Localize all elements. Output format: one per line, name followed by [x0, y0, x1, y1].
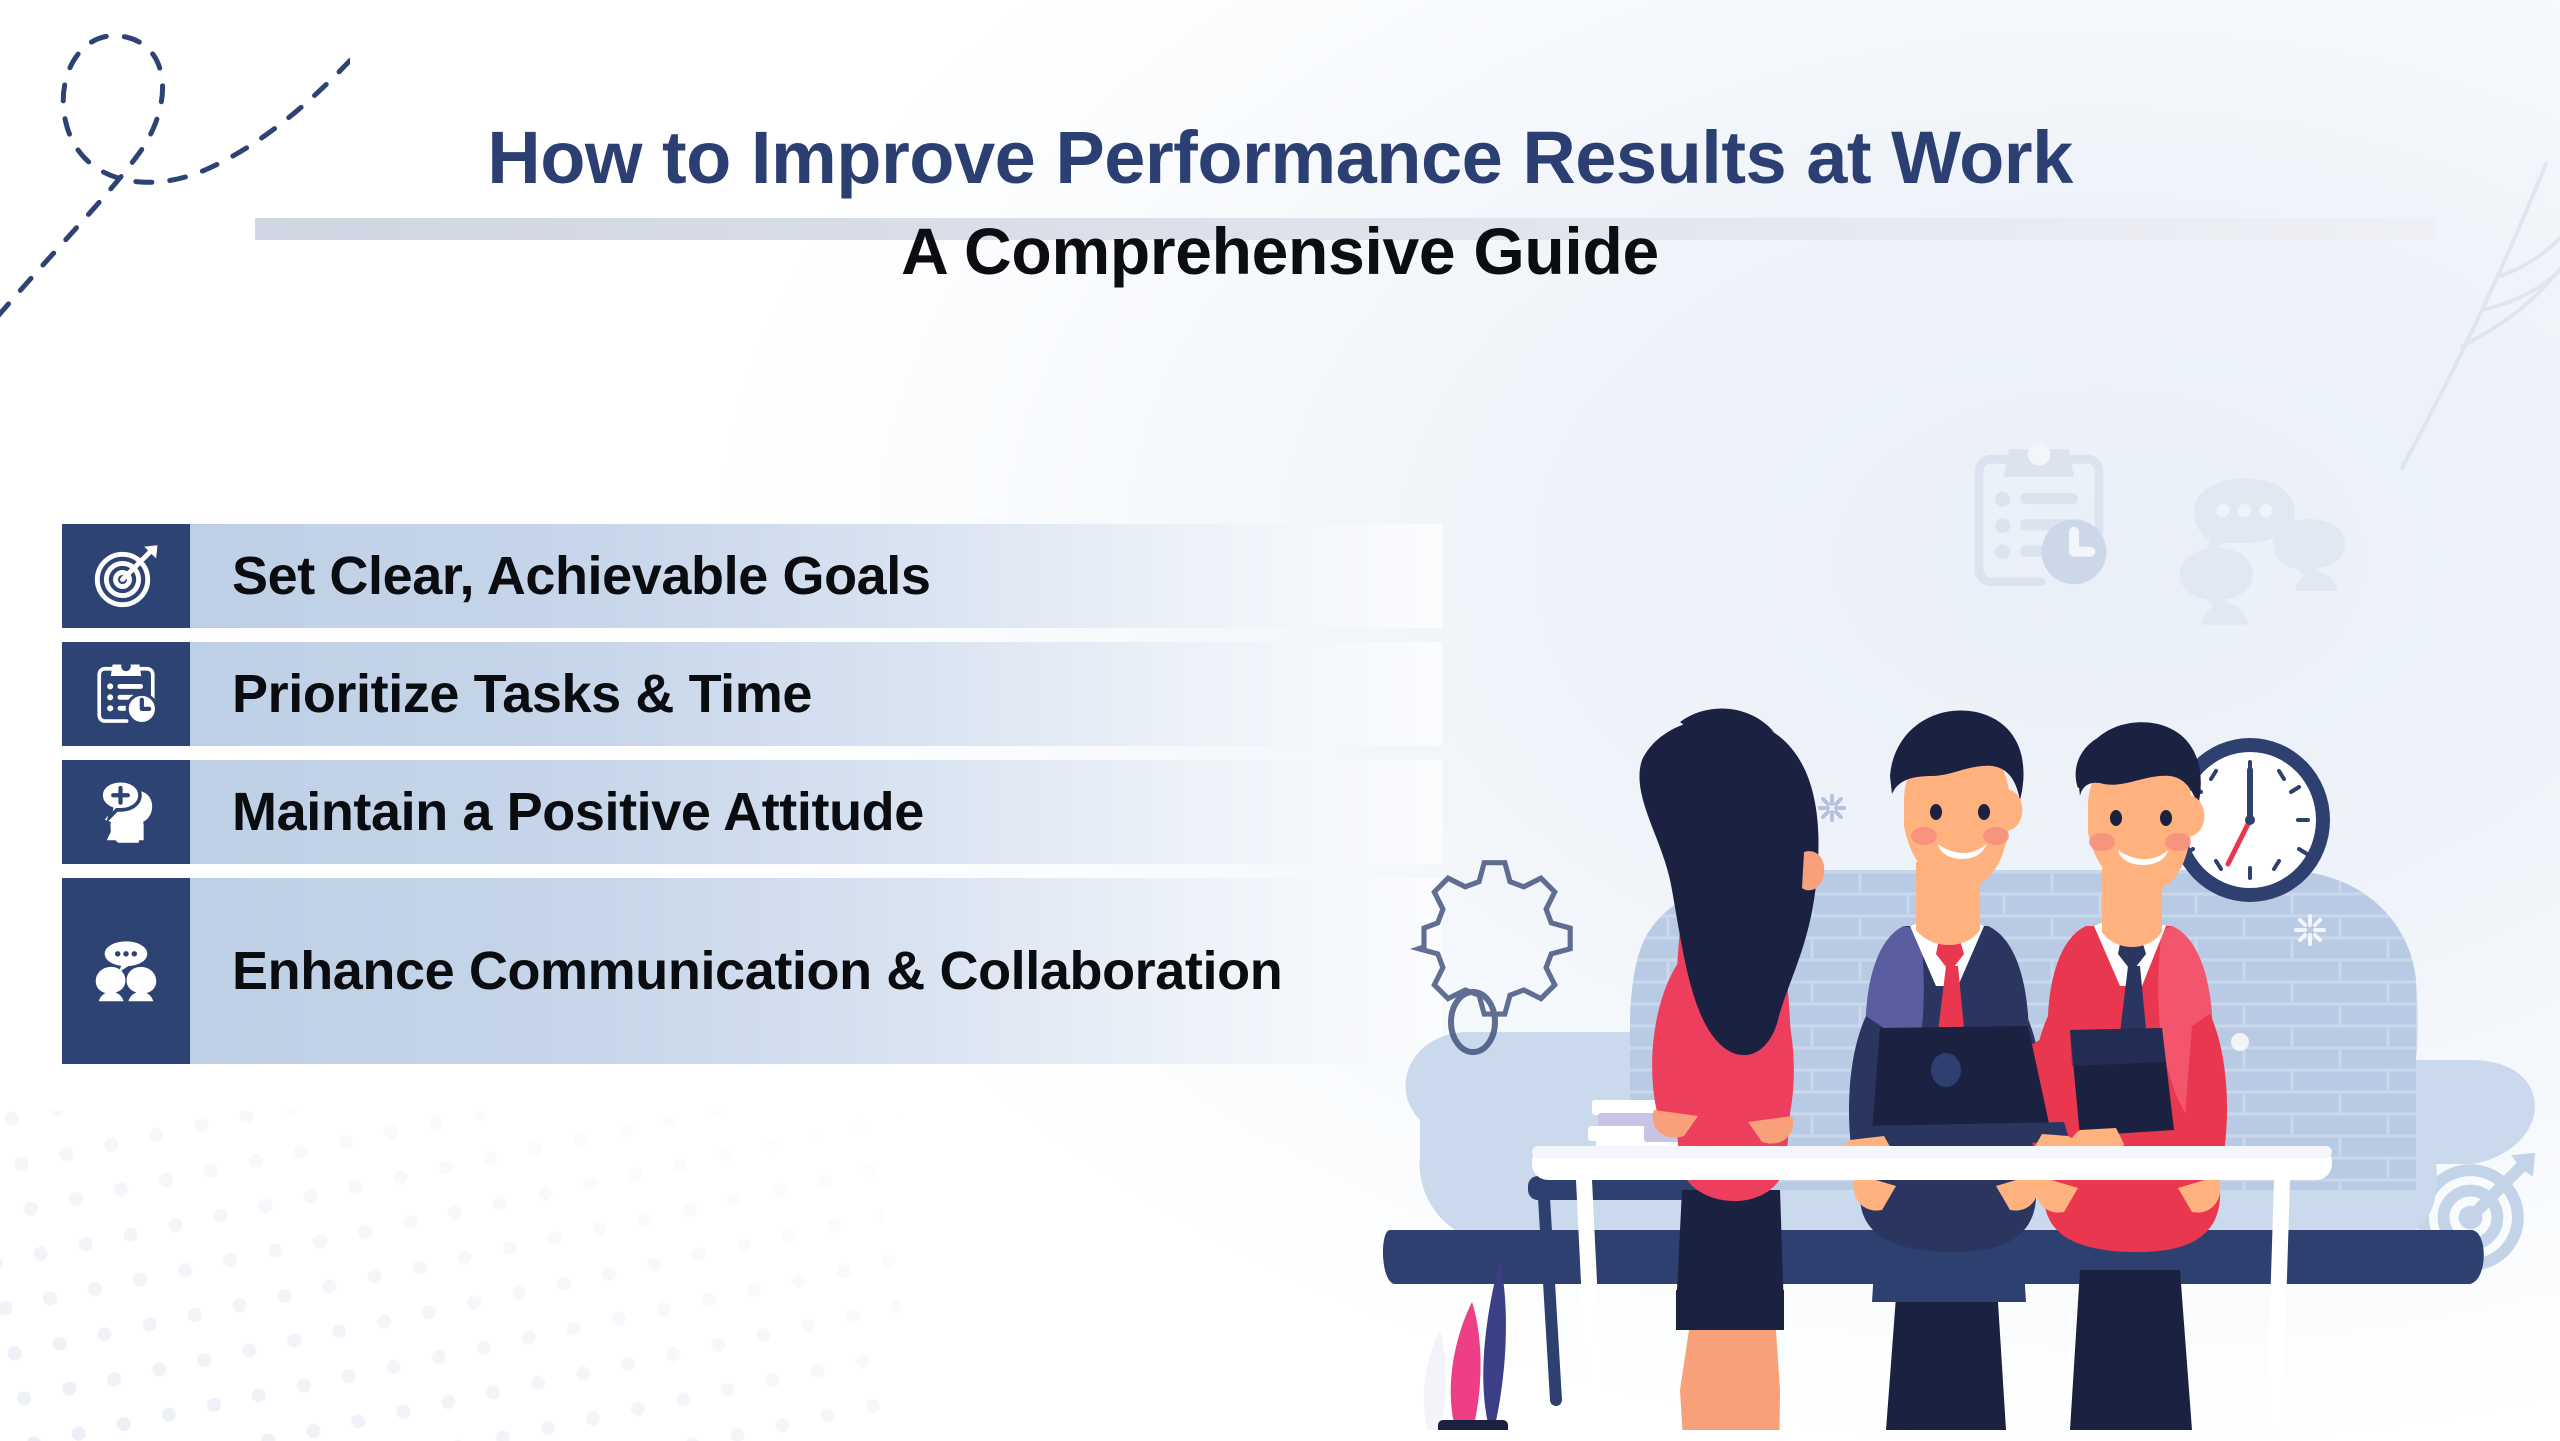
- list-item[interactable]: Maintain a Positive Attitude: [62, 760, 1442, 864]
- target-arrow-icon: [91, 541, 161, 611]
- page-title: How to Improve Performance Results at Wo…: [0, 120, 2560, 197]
- list-item-icon-box: [62, 760, 190, 864]
- infographic-canvas: How to Improve Performance Results at Wo…: [0, 0, 2560, 1441]
- list-item-label: Set Clear, Achievable Goals: [190, 524, 971, 628]
- two-heads-speech-icon: [91, 936, 161, 1006]
- list-item-icon-box: [62, 878, 190, 1064]
- list-item-icon-box: [62, 524, 190, 628]
- head-plus-bubble-icon: [91, 777, 161, 847]
- clipboard-clock-icon: [91, 659, 161, 729]
- list-item-label: Enhance Communication & Collaboration: [190, 878, 1322, 1064]
- list-item[interactable]: Set Clear, Achievable Goals: [62, 524, 1442, 628]
- speech-bubble-heads-watermark-icon: [2170, 470, 2350, 640]
- list-item-icon-box: [62, 642, 190, 746]
- list-item-label: Prioritize Tasks & Time: [190, 642, 852, 746]
- tips-list: Set Clear, Achievable Goals: [62, 524, 1442, 1078]
- list-item-label: Maintain a Positive Attitude: [190, 760, 964, 864]
- office-team-collaboration-illustration: [1380, 630, 2560, 1430]
- list-item[interactable]: Prioritize Tasks & Time: [62, 642, 1442, 746]
- gear-outline-icon: [1419, 863, 1570, 1052]
- page-subtitle: A Comprehensive Guide: [0, 217, 2560, 286]
- heading-block: How to Improve Performance Results at Wo…: [0, 120, 2560, 286]
- list-item[interactable]: Enhance Communication & Collaboration: [62, 878, 1442, 1064]
- clipboard-clock-watermark-icon: [1964, 438, 2114, 603]
- dot-grid-pattern: [0, 1111, 900, 1441]
